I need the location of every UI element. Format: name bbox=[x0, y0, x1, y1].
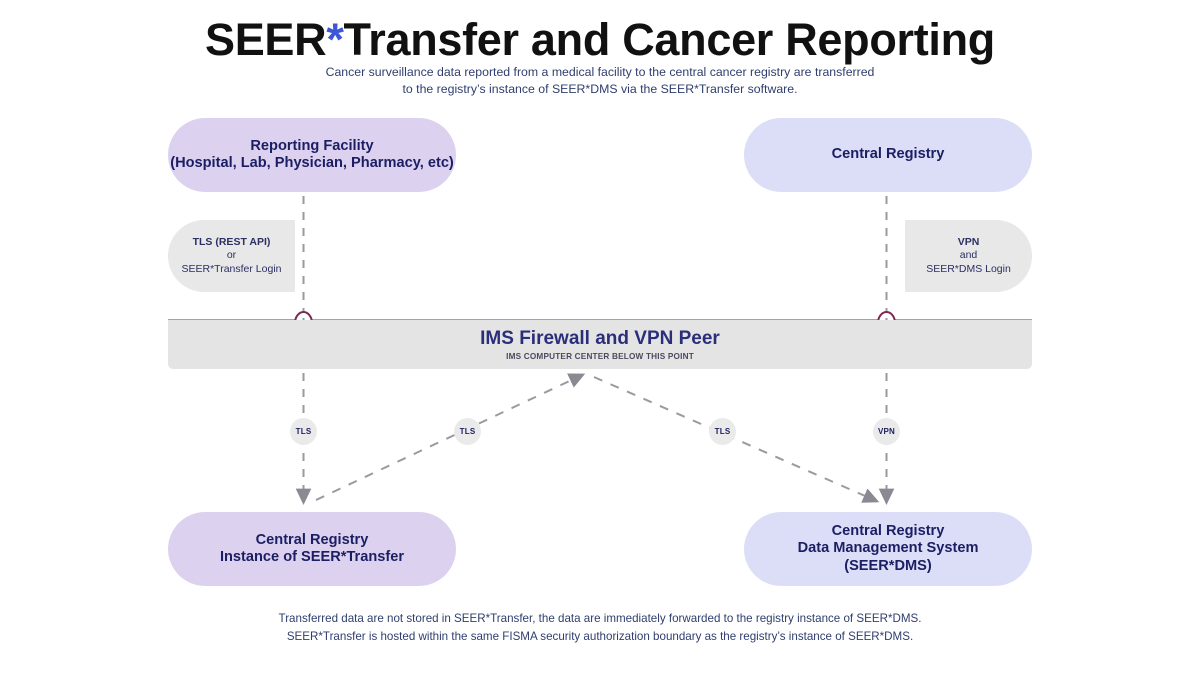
footnote-line-1: Transferred data are not stored in SEER*… bbox=[0, 610, 1200, 628]
protocol-circle-tls-1: TLS bbox=[290, 418, 317, 445]
protocol-right-line-3: SEER*DMS Login bbox=[926, 263, 1011, 277]
protocol-box-left: TLS (REST API) or SEER*Transfer Login bbox=[168, 220, 295, 292]
protocol-circle-tls-2: TLS bbox=[454, 418, 481, 445]
wire-transfer-to-peak bbox=[316, 377, 578, 500]
cr-dms-line-3: (SEER*DMS) bbox=[798, 558, 979, 576]
cr-transfer-line-2: Instance of SEER*Transfer bbox=[220, 549, 404, 567]
reporting-facility-line-2: (Hospital, Lab, Physician, Pharmacy, etc… bbox=[170, 155, 454, 173]
firewall-subtitle: IMS COMPUTER CENTER BELOW THIS POINT bbox=[506, 352, 694, 361]
firewall-title: IMS Firewall and VPN Peer bbox=[480, 328, 720, 350]
protocol-left-line-2: or bbox=[227, 249, 236, 263]
central-registry-line-1: Central Registry bbox=[832, 146, 945, 164]
node-central-registry[interactable]: Central Registry bbox=[744, 118, 1032, 192]
protocol-right-line-1: VPN bbox=[958, 236, 980, 250]
firewall-band: IMS Firewall and VPN Peer IMS COMPUTER C… bbox=[168, 320, 1032, 369]
protocol-circle-tls-3: TLS bbox=[709, 418, 736, 445]
footnote-line-2: SEER*Transfer is hosted within the same … bbox=[0, 628, 1200, 646]
footnote: Transferred data are not stored in SEER*… bbox=[0, 610, 1200, 646]
diagram-canvas: SEER*Transfer and Cancer Reporting Cance… bbox=[0, 0, 1200, 674]
node-reporting-facility[interactable]: Reporting Facility (Hospital, Lab, Physi… bbox=[168, 118, 456, 192]
node-central-registry-seer-dms[interactable]: Central Registry Data Management System … bbox=[744, 512, 1032, 586]
protocol-box-right: VPN and SEER*DMS Login bbox=[905, 220, 1032, 292]
cr-transfer-line-1: Central Registry bbox=[220, 532, 404, 550]
protocol-left-line-1: TLS (REST API) bbox=[193, 236, 271, 250]
cr-dms-line-2: Data Management System bbox=[798, 540, 979, 558]
protocol-right-line-2: and bbox=[960, 249, 978, 263]
cr-dms-line-1: Central Registry bbox=[798, 523, 979, 541]
reporting-facility-line-1: Reporting Facility bbox=[170, 138, 454, 156]
protocol-left-line-3: SEER*Transfer Login bbox=[182, 263, 282, 277]
protocol-circle-vpn: VPN bbox=[873, 418, 900, 445]
node-central-registry-seer-transfer[interactable]: Central Registry Instance of SEER*Transf… bbox=[168, 512, 456, 586]
